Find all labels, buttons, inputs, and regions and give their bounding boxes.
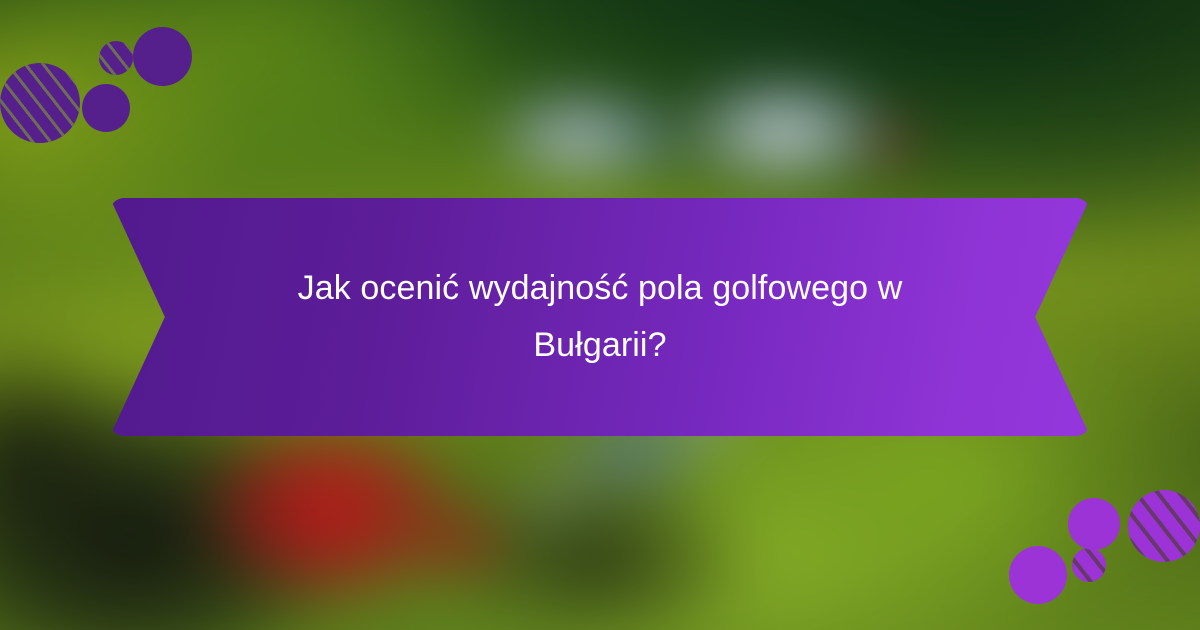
circle-solid-medium	[82, 84, 130, 132]
title-ribbon-banner: Jak ocenić wydajność pola golfowego w Bu…	[110, 198, 1090, 436]
circle-striped-small	[1072, 548, 1106, 582]
circle-striped-small	[99, 41, 133, 75]
circle-solid-large	[133, 27, 192, 86]
page-title: Jak ocenić wydajność pola golfowego w Bu…	[230, 260, 970, 374]
circle-striped-large	[1128, 490, 1200, 562]
circle-solid-medium	[1068, 498, 1120, 550]
circle-solid-large	[1009, 546, 1067, 604]
social-share-card: Jak ocenić wydajność pola golfowego w Bu…	[0, 0, 1200, 630]
circle-striped-large	[0, 63, 80, 143]
